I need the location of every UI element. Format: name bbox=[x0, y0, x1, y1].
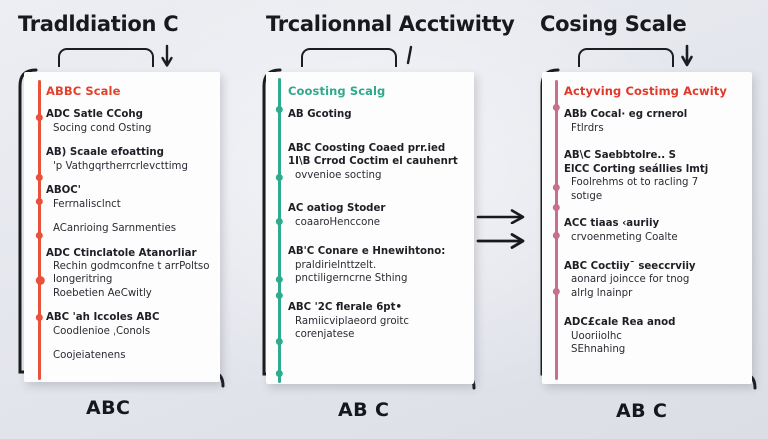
list-item: ADC Ctinclatole Atanorliar Rechin godmco… bbox=[46, 247, 210, 301]
timeline-rail bbox=[555, 80, 558, 380]
list-item-line: Socing cond Osting bbox=[46, 122, 210, 135]
list-item-line: pnctiligerncrne Sthing bbox=[288, 272, 464, 285]
timeline-dot bbox=[276, 338, 283, 345]
list-item: AC oatiog Stoder coaaroHenccone bbox=[288, 202, 464, 229]
list-item-line: ADC Ctinclatole Atanorliar bbox=[46, 247, 210, 260]
list-item-line: ovvenioe socting bbox=[288, 169, 464, 182]
panel-card: ABBC Scale ADC Satle CCohg Socing cond O… bbox=[24, 72, 220, 382]
panel-content: ABBC Scale ADC Satle CCohg Socing cond O… bbox=[24, 72, 220, 382]
timeline-rail bbox=[38, 80, 41, 380]
list-item: ABC Coosting Coaed prr.ied 1I\B Crrod Co… bbox=[288, 142, 464, 182]
list-item-line: Roebetien AeCwitly bbox=[46, 287, 210, 300]
panel-bracket-group bbox=[301, 44, 431, 74]
list-item-line: 1I\B Crrod Coctim el cauhenrt bbox=[288, 155, 464, 168]
list-item-line: AB) Scaale efoatting bbox=[46, 146, 210, 159]
list-item: ACanrioing Sarnmenties bbox=[46, 222, 210, 235]
list-item: Coojeiatenens bbox=[46, 349, 210, 362]
rounded-bracket-icon bbox=[301, 48, 397, 67]
timeline-dot bbox=[276, 106, 283, 113]
list-item-line: Ferrnalisclnct bbox=[46, 198, 210, 211]
list-item: ABC 'ah Iccoles ABC Coodlenioe ˌConols bbox=[46, 311, 210, 338]
timeline-dot bbox=[36, 276, 45, 285]
panel-card: Actyving Costimg Acwity ABb Cocal· eg cr… bbox=[542, 72, 752, 384]
list-item: ABOC' Ferrnalisclnct bbox=[46, 184, 210, 211]
list-item-line: coaaroHenccone bbox=[288, 216, 464, 229]
list-item-line: AC oatiog Stoder bbox=[288, 202, 464, 215]
list-item: AB) Scaale efoatting 'p Vathgqrtherrcrle… bbox=[46, 146, 210, 173]
panel-bracket-group bbox=[578, 44, 708, 74]
list-item: AB Gcoting bbox=[288, 108, 464, 121]
panel-traditional-activity: Trcalionnal Acctiwitty Coosting Scalg AB… bbox=[246, 0, 514, 439]
arrow-down-icon bbox=[401, 44, 419, 70]
list-item-line: Ftlrdrs bbox=[564, 122, 742, 135]
timeline-dot bbox=[36, 232, 43, 239]
list-item-line: AB'C Conare e Hnewihtono: bbox=[288, 245, 464, 258]
timeline-dot bbox=[276, 276, 283, 283]
diagram-stage: Tradldiation C ABBC Scale ADC Satle CCoh… bbox=[0, 0, 768, 439]
panel-content: Coosting Scalg AB Gcoting ABC Coosting C… bbox=[266, 72, 474, 384]
timeline-dot bbox=[36, 174, 43, 181]
axis-label: AB C bbox=[338, 399, 389, 421]
list-item-line: ADC£cale Rea anod bbox=[564, 316, 742, 329]
list-item: AB\C Saebbtolre.. S ElCC Corting seállie… bbox=[564, 149, 742, 203]
list-item-line: ABC Coosting Coaed prr.ied bbox=[288, 142, 464, 155]
list-item-line: Coodlenioe ˌConols bbox=[46, 325, 210, 338]
timeline-dot bbox=[36, 198, 43, 205]
list-item: ADC Satle CCohg Socing cond Osting bbox=[46, 108, 210, 135]
panel-costing-scale: Cosing Scale Actyving Costimg Acwity ABb… bbox=[520, 0, 768, 439]
list-item-line: 'p Vathgqrtherrcrlevcttimg bbox=[46, 160, 210, 173]
timeline-dot bbox=[36, 314, 43, 321]
panel-heading: Actyving Costimg Acwity bbox=[564, 84, 742, 98]
panel-title: Cosing Scale bbox=[540, 12, 686, 36]
list-item-line: crvoenmeting Coalte bbox=[564, 231, 742, 244]
list-item: ABb Cocal· eg crnerol Ftlrdrs bbox=[564, 108, 742, 135]
list-item-line: AB\C Saebbtolre.. S bbox=[564, 149, 742, 162]
list-item-line: ACC tiaas ‹auriiy bbox=[564, 217, 742, 230]
list-item: ABC '2C flerale 6pt• Ramiicviplaeord gro… bbox=[288, 301, 464, 341]
panel-bracket-group bbox=[58, 44, 188, 74]
rounded-bracket-icon bbox=[578, 48, 674, 67]
list-item-line: Coojeiatenens bbox=[46, 349, 210, 362]
list-item-line: corenjatese bbox=[288, 328, 464, 341]
timeline-dot bbox=[553, 184, 560, 191]
list-item-line: ACanrioing Sarnmenties bbox=[46, 222, 210, 235]
list-item-line: Rechin godmconfne t arrPoltso bbox=[46, 260, 210, 273]
list-item: ADC£cale Rea anod Uooriiolhc SEhnahing bbox=[564, 316, 742, 356]
axis-label: ABC bbox=[86, 397, 130, 419]
list-item-line: ABC 'ah Iccoles ABC bbox=[46, 311, 210, 324]
list-item-line: ElCC Corting seállies lmtj bbox=[564, 163, 742, 176]
panel-title: Tradldiation C bbox=[18, 12, 178, 36]
list-item: AB'C Conare e Hnewihtono: praldirielnttz… bbox=[288, 245, 464, 285]
timeline-dot bbox=[276, 370, 283, 377]
list-item-line: ABOC' bbox=[46, 184, 210, 197]
arrow-down-icon bbox=[158, 44, 176, 70]
timeline-dot bbox=[553, 204, 560, 211]
panel-card: Coosting Scalg AB Gcoting ABC Coosting C… bbox=[266, 72, 474, 384]
list-item-line: AB Gcoting bbox=[288, 108, 464, 121]
rounded-bracket-icon bbox=[58, 48, 154, 67]
arrow-down-icon bbox=[678, 44, 696, 70]
panel-title: Trcalionnal Acctiwitty bbox=[266, 12, 515, 36]
timeline-dot bbox=[553, 288, 560, 295]
list-item-line: alrlg lnainpr bbox=[564, 287, 742, 300]
list-item: ABC Coctiiyˉ seeccrviiy aonard joincce f… bbox=[564, 260, 742, 300]
list-item-line: Uooriiolhc bbox=[564, 330, 742, 343]
list-item-line: ABC '2C flerale 6pt• bbox=[288, 301, 464, 314]
timeline-dot bbox=[553, 232, 560, 239]
panel-heading: Coosting Scalg bbox=[288, 84, 464, 98]
timeline-rail bbox=[278, 78, 281, 383]
list-item-line: ABC Coctiiyˉ seeccrviiy bbox=[564, 260, 742, 273]
list-item-line: ADC Satle CCohg bbox=[46, 108, 210, 121]
panel-heading: ABBC Scale bbox=[46, 84, 210, 98]
timeline-dot bbox=[276, 174, 283, 181]
panel-traditional-costing: Tradldiation C ABBC Scale ADC Satle CCoh… bbox=[0, 0, 250, 439]
list-item: ACC tiaas ‹auriiy crvoenmeting Coalte bbox=[564, 217, 742, 244]
list-item-line: SEhnahing bbox=[564, 343, 742, 356]
list-item-line: ABb Cocal· eg crnerol bbox=[564, 108, 742, 121]
list-item-line: sotıge bbox=[564, 190, 742, 203]
list-item-line: aonard joincce for tnog bbox=[564, 273, 742, 286]
list-item-line: Iongeritring bbox=[46, 273, 210, 286]
axis-label: AB C bbox=[616, 400, 667, 422]
timeline-dot bbox=[276, 292, 283, 299]
list-item-line: praldirielnttzelt. bbox=[288, 259, 464, 272]
list-item-line: Ramiicviplaeord groitc bbox=[288, 315, 464, 328]
timeline-dot bbox=[276, 218, 283, 225]
timeline-dot bbox=[553, 104, 560, 111]
timeline-dot bbox=[36, 114, 43, 121]
panel-content: Actyving Costimg Acwity ABb Cocal· eg cr… bbox=[542, 72, 752, 384]
list-item-line: Foolrehms ot to racling 7 bbox=[564, 176, 742, 189]
